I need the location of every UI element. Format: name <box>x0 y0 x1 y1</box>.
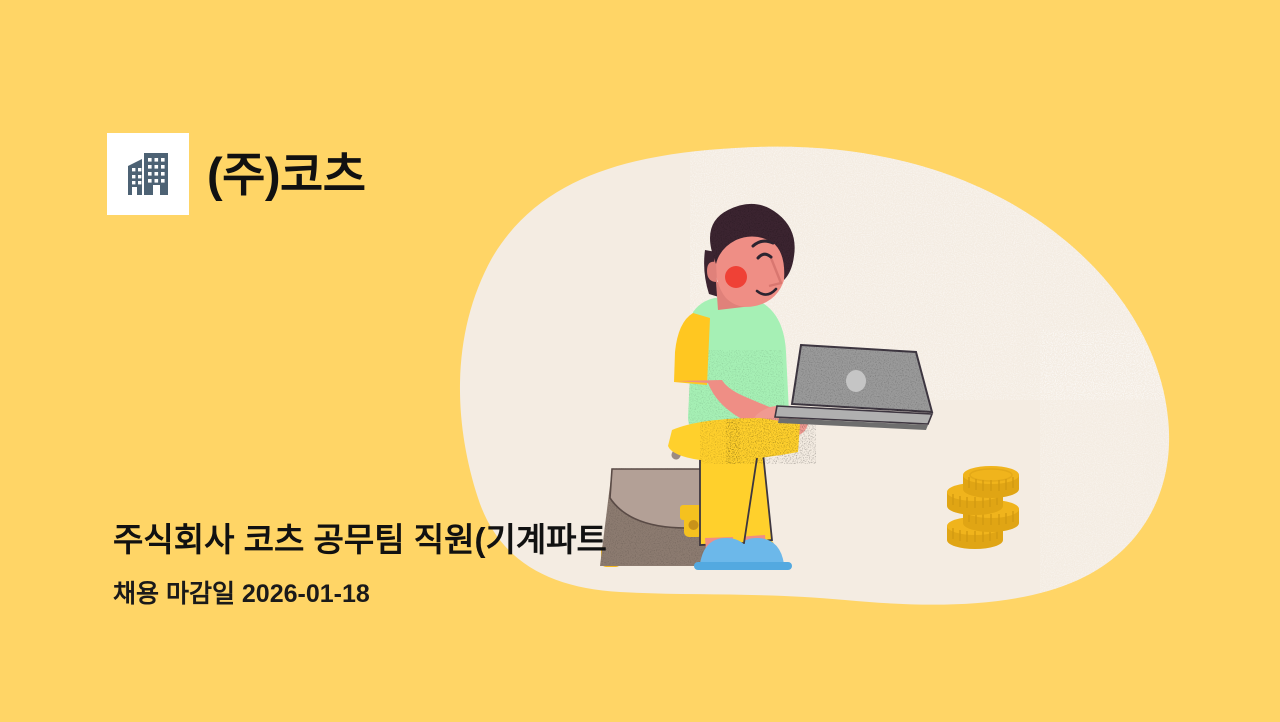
company-name: (주)코츠 <box>207 151 366 198</box>
job-deadline: 채용 마감일 2026-01-18 <box>113 579 370 610</box>
laptop <box>775 340 940 430</box>
company-logo <box>107 133 189 215</box>
building-icon <box>120 146 176 202</box>
brand-header: (주)코츠 <box>107 133 366 215</box>
job-title: 주식회사 코츠 공무팀 직원(기계파트 <box>113 519 607 560</box>
illustration-layer <box>0 0 1280 722</box>
laptop-logo <box>846 370 866 392</box>
job-posting-card: (주)코츠 주식회사 코츠 공무팀 직원(기계파트 채용 마감일 2026-01… <box>0 0 1280 722</box>
person-blush <box>725 266 747 288</box>
coin <box>963 466 1019 498</box>
briefcase-clasp-hole <box>689 520 699 530</box>
